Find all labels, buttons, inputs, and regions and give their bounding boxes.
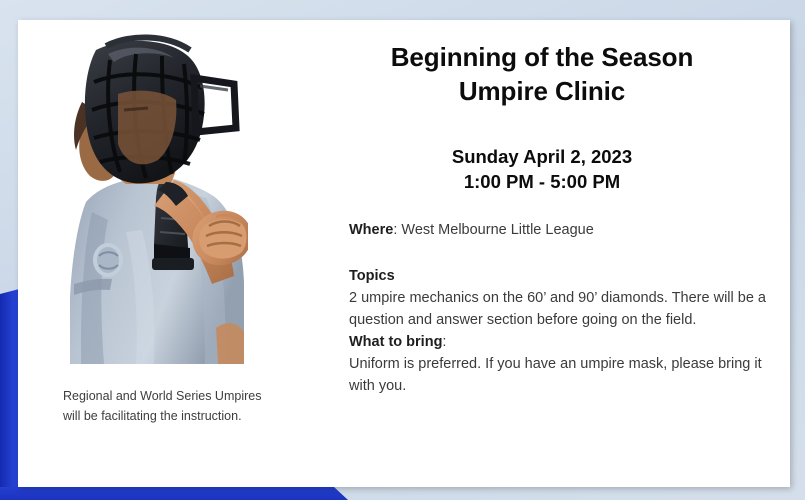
topics-text: 2 umpire mechanics on the 60’ and 90’ di…: [349, 287, 776, 331]
where-label: Where: [349, 222, 393, 238]
decorative-blue-bottom-band: [0, 487, 348, 500]
photo-caption: Regional and World Series Umpires will b…: [63, 386, 263, 427]
where-line: Where: West Melbourne Little League: [349, 219, 776, 241]
event-date: Sunday April 2, 2023: [308, 144, 776, 170]
title-line-2: Umpire Clinic: [308, 74, 776, 108]
bring-text: Uniform is preferred. If you have an ump…: [349, 353, 776, 397]
title-line-1: Beginning of the Season: [308, 40, 776, 74]
umpire-photo-graphic: [66, 32, 248, 372]
text-content-column: Beginning of the Season Umpire Clinic Su…: [308, 20, 776, 397]
slide-content-card: Regional and World Series Umpires will b…: [18, 20, 790, 487]
event-details: Where: West Melbourne Little League Topi…: [308, 219, 776, 397]
umpire-photo: [66, 32, 248, 372]
bring-label: What to bring: [349, 334, 442, 350]
page-title: Beginning of the Season Umpire Clinic: [308, 40, 776, 109]
bring-separator: :: [442, 334, 446, 350]
event-time: 1:00 PM - 5:00 PM: [308, 169, 776, 195]
topics-label: Topics: [349, 265, 776, 287]
bring-line: What to bring:: [349, 331, 776, 353]
slide-canvas: Regional and World Series Umpires will b…: [0, 0, 805, 500]
where-value: West Melbourne Little League: [401, 222, 593, 238]
event-datetime: Sunday April 2, 2023 1:00 PM - 5:00 PM: [308, 144, 776, 195]
